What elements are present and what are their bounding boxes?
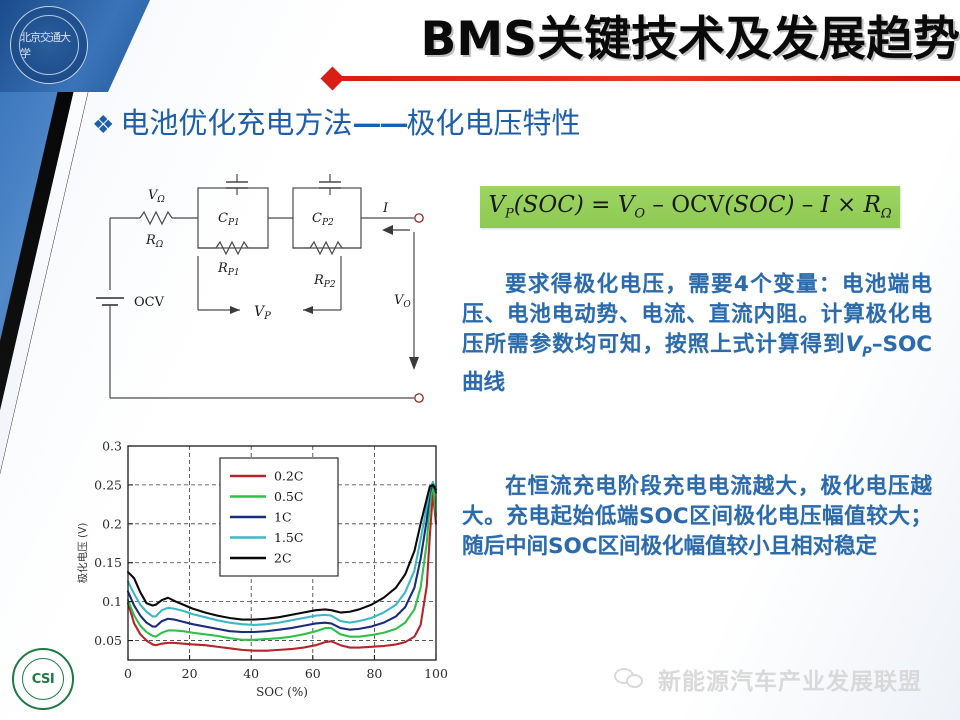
chart-ytick-label: 0.1 <box>102 594 122 609</box>
circuit-label-v-omega: VΩ <box>148 188 165 205</box>
chart-ytick-label: 0.2 <box>102 516 122 531</box>
circuit-label-vo: VO <box>394 293 411 310</box>
csi-organization-logo: CSI <box>12 648 74 710</box>
description-paragraph-1: 要求得极化电压，需要4个变量：电池端电压、电池电动势、电流、直流内阻。计算极化电… <box>462 270 932 398</box>
circuit-label-rp1: RP1 <box>217 261 240 278</box>
description-paragraph-2: 在恒流充电阶段充电电流越大，极化电压越大。充电起始低端SOC区间极化电压幅值较大… <box>462 472 932 562</box>
formula-soc2: (SOC) <box>724 192 794 218</box>
formula-equals: = <box>591 192 610 218</box>
circuit-label-r-omega: RΩ <box>145 233 164 250</box>
formula-minus-2: – <box>802 192 814 218</box>
chart-legend-label-0-5C: 0.5C <box>274 489 303 504</box>
chart-xtick-label: 100 <box>424 666 448 681</box>
polarization-voltage-formula: VP(SOC) = VO – OCV(SOC) – I × RΩ <box>488 192 891 222</box>
circuit-label-cp2: CP2 <box>312 211 334 228</box>
formula-current: I <box>821 192 830 218</box>
chart-legend-label-2C: 2C <box>274 551 292 566</box>
formula-vo-sub: O <box>634 207 645 222</box>
circuit-label-current: I <box>382 201 389 216</box>
formula-vp: V <box>488 192 505 218</box>
chart-legend-label-1-5C: 1.5C <box>274 530 303 545</box>
slide-root: 北京交通大学 BMS关键技术及发展趋势 ❖电池优化充电方法——极化电压特性 <box>0 0 960 720</box>
subtitle-text-before: 电池优化充电方法 <box>120 106 352 140</box>
chart-legend-label-1C: 1C <box>274 510 292 525</box>
beijing-jiaotong-university-logo: 北京交通大学 <box>10 6 88 84</box>
circuit-label-rp2: RP2 <box>313 273 336 290</box>
formula-soc1: (SOC) <box>514 192 584 218</box>
chart-xtick-label: 40 <box>243 666 259 681</box>
paragraph-1-vp: V <box>846 332 863 357</box>
polarization-voltage-soc-chart: 0204060801000.050.10.150.20.250.3SOC (%)… <box>70 432 450 717</box>
polarization-voltage-formula-box: VP(SOC) = VO – OCV(SOC) – I × RΩ <box>480 186 900 228</box>
equivalent-circuit-diagram: VΩ RΩ CP1 RP1 CP2 RP2 OCV VP I VO <box>88 172 448 408</box>
formula-ocv: OCV <box>671 192 724 218</box>
chart-yaxis-title: 极化电压 (V) <box>76 523 89 584</box>
chart-xtick-label: 80 <box>366 666 382 681</box>
wechat-watermark: 新能源汽车产业发展联盟 <box>614 662 922 696</box>
chart-ytick-label: 0.3 <box>102 439 122 454</box>
chart-xtick-label: 60 <box>305 666 321 681</box>
formula-vp-sub: P <box>505 207 514 222</box>
paragraph-1-vp-sub: P <box>862 345 872 360</box>
university-logo-ring: 北京交通大学 <box>19 15 79 75</box>
chart-xtick-label: 20 <box>182 666 198 681</box>
subtitle-dash: —— <box>352 106 406 140</box>
section-subtitle: ❖电池优化充电方法——极化电压特性 <box>92 100 580 142</box>
watermark-label: 新能源汽车产业发展联盟 <box>658 662 922 696</box>
title-underline-rule <box>340 76 960 81</box>
university-logo-label: 北京交通大学 <box>20 29 78 61</box>
wechat-icon <box>614 667 648 691</box>
formula-times: × <box>837 192 856 218</box>
formula-minus-1: – <box>652 192 664 218</box>
chart-xtick-label: 0 <box>124 666 132 681</box>
chart-ytick-label: 0.15 <box>94 555 122 570</box>
chart-ytick-label: 0.05 <box>94 633 122 648</box>
circuit-label-vp: VP <box>254 304 271 322</box>
diamond-bullet-icon: ❖ <box>92 110 114 139</box>
csi-logo-text: CSI <box>22 658 64 700</box>
circuit-label-ocv: OCV <box>134 295 165 310</box>
subtitle-text-after: 极化电压特性 <box>406 106 580 140</box>
chart-legend-label-0-2C: 0.2C <box>274 469 303 484</box>
formula-r-sub: Ω <box>881 207 892 222</box>
chart-ytick-label: 0.25 <box>94 477 122 492</box>
circuit-label-cp1: CP1 <box>218 211 240 228</box>
page-title: BMS关键技术及发展趋势 <box>330 4 960 76</box>
formula-r: R <box>864 192 881 218</box>
chart-xaxis-title: SOC (%) <box>256 685 308 699</box>
formula-vo: V <box>618 192 635 218</box>
